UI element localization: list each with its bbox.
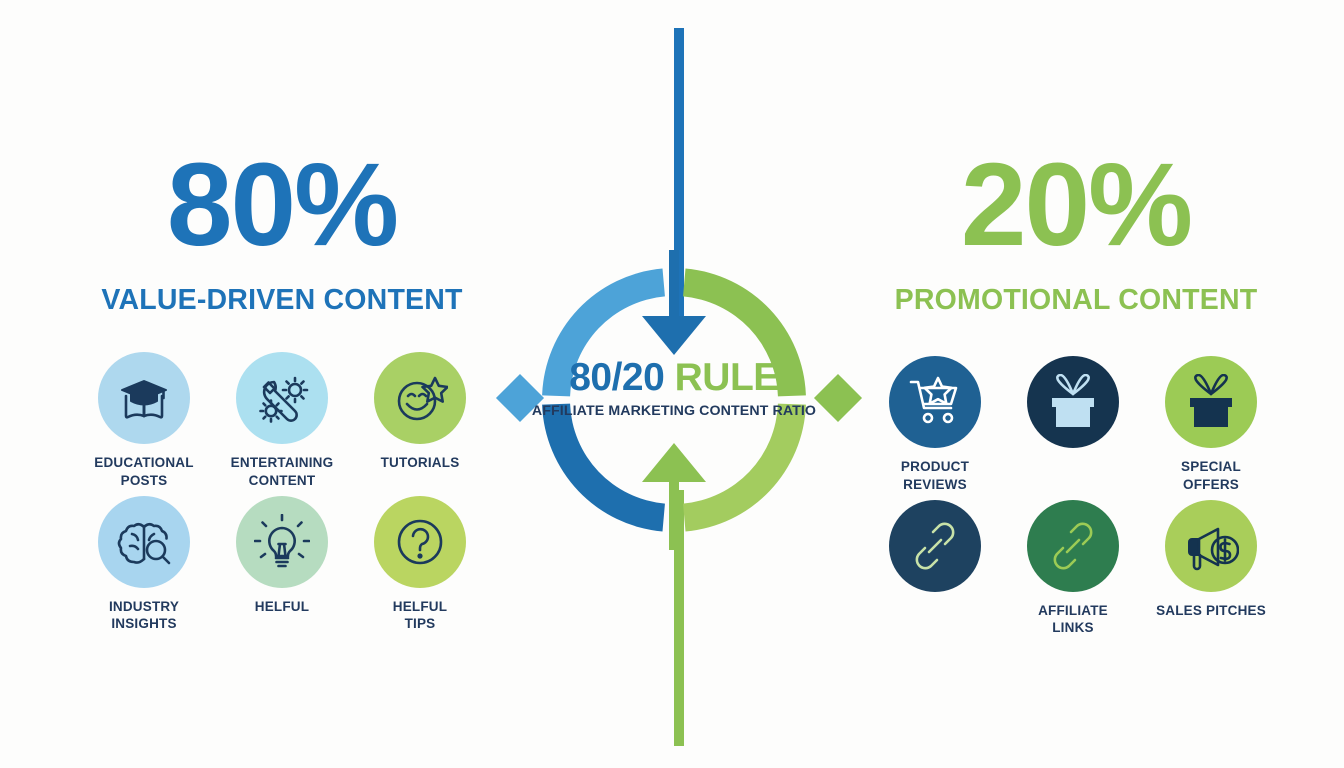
icon-label: ENTERTAININGCONTENT: [231, 454, 334, 490]
arrow-down-head: [642, 316, 706, 355]
gift-icon[interactable]: [1027, 356, 1119, 448]
icon-cell[interactable]: SPECIALOFFERS: [1142, 356, 1280, 494]
smiley-star-icon[interactable]: [374, 352, 466, 444]
question-mark-icon[interactable]: [374, 496, 466, 588]
gift-icon[interactable]: [1165, 356, 1257, 448]
lightbulb-icon[interactable]: [236, 496, 328, 588]
icon-cell[interactable]: [866, 500, 1004, 638]
icon-label: SALES PITCHES: [1156, 602, 1266, 620]
icon-label: HELFULTIPS: [393, 598, 447, 634]
chain-link-icon[interactable]: [889, 500, 981, 592]
arrow-up-head: [642, 443, 706, 482]
icon-cell[interactable]: HELFULTIPS: [351, 496, 489, 634]
right-percent: 20%: [856, 146, 1296, 264]
icon-label: INDUSTRYINSIGHTS: [109, 598, 179, 634]
icon-cell[interactable]: [1004, 356, 1142, 494]
icon-cell[interactable]: INDUSTRYINSIGHTS: [75, 496, 213, 634]
brain-magnifier-icon[interactable]: [98, 496, 190, 588]
icon-label: SPECIALOFFERS: [1181, 458, 1241, 494]
icon-cell[interactable]: ENTERTAININGCONTENT: [213, 352, 351, 490]
cycle-arc-top-left: [542, 269, 665, 397]
chain-link-icon[interactable]: [1027, 500, 1119, 592]
icon-cell[interactable]: AFFILIATELINKS: [1004, 500, 1142, 638]
left-headline: 80% VALUE-DRIVEN CONTENT: [62, 146, 502, 317]
icon-cell[interactable]: TUTORIALS: [351, 352, 489, 490]
wrench-gears-icon[interactable]: [236, 352, 328, 444]
arrow-down-stem: [669, 250, 679, 320]
icon-label: PRODUCTREVIEWS: [901, 458, 969, 494]
arrow-up-stem: [669, 478, 679, 550]
cycle-arc-top-right: [683, 269, 806, 397]
cycle-arc-bottom-right: [683, 404, 806, 532]
icon-label: HELFUL: [255, 598, 309, 616]
right-icon-grid: PRODUCTREVIEWS SPECIALOFFERS AFFILIATELI…: [866, 356, 1280, 637]
cycle-diagram: [494, 250, 854, 550]
icon-cell[interactable]: HELFUL: [213, 496, 351, 634]
cycle-arc-bottom-left: [542, 404, 665, 532]
icon-cell[interactable]: EDUCATIONALPOSTS: [75, 352, 213, 490]
right-headline: 20% PROMOTIONAL CONTENT: [856, 146, 1296, 317]
icon-label: TUTORIALS: [381, 454, 460, 472]
icon-cell[interactable]: SALES PITCHES: [1142, 500, 1280, 638]
icon-cell[interactable]: PRODUCTREVIEWS: [866, 356, 1004, 494]
left-icon-grid: EDUCATIONALPOSTS ENTERTAININGCONTENT TUT…: [75, 352, 489, 633]
right-subtitle: PROMOTIONAL CONTENT: [856, 284, 1296, 317]
graduation-book-icon[interactable]: [98, 352, 190, 444]
cart-star-icon[interactable]: [889, 356, 981, 448]
icon-label: AFFILIATELINKS: [1038, 602, 1108, 638]
icon-label: EDUCATIONALPOSTS: [94, 454, 193, 490]
infographic-canvas: 80% VALUE-DRIVEN CONTENT 20% PROMOTIONAL…: [0, 0, 1344, 768]
left-percent: 80%: [62, 146, 502, 264]
megaphone-dollar-icon[interactable]: [1165, 500, 1257, 592]
left-subtitle: VALUE-DRIVEN CONTENT: [62, 284, 502, 317]
